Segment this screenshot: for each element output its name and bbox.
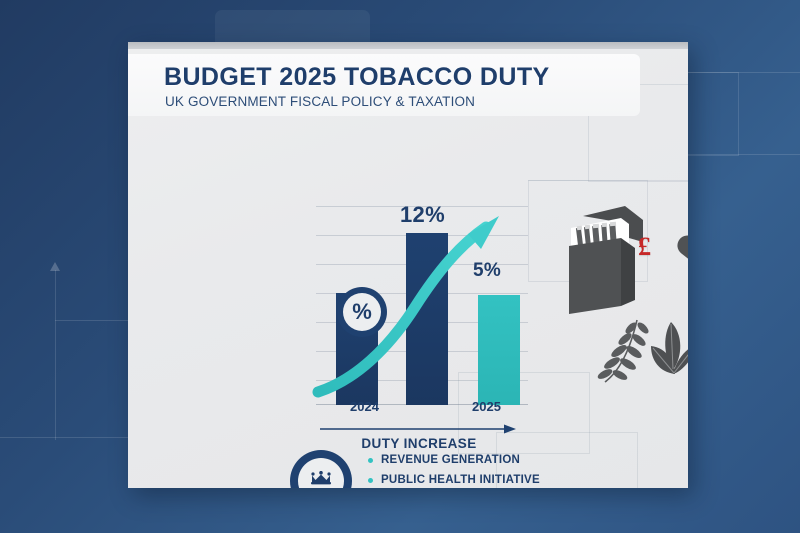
list-item-label: PUBLIC HEALTH INITIATIVE xyxy=(381,474,540,486)
cigar-icon xyxy=(663,198,688,303)
title-band: BUDGET 2025 TOBACCO DUTY UK GOVERNMENT F… xyxy=(128,54,640,116)
page-title: BUDGET 2025 TOBACCO DUTY xyxy=(164,63,550,92)
bar-peak[interactable] xyxy=(406,233,448,405)
percent-badge: % xyxy=(337,287,387,337)
axis-caption: DUTY INCREASE xyxy=(316,436,522,451)
tobacco-leaves-icon xyxy=(583,312,688,390)
infographic-card: BUDGET 2025 TOBACCO DUTY UK GOVERNMENT F… xyxy=(128,42,688,488)
bar-value-12: 12% xyxy=(400,202,445,228)
percent-symbol: % xyxy=(343,293,381,331)
x-tick-2024: 2024 xyxy=(350,399,379,414)
pound-symbol-1: £ xyxy=(638,232,651,262)
list-item-label: REVENUE GENERATION xyxy=(381,454,520,466)
list-item[interactable]: REVENUE GENERATION xyxy=(368,451,540,469)
card-top-rule xyxy=(128,42,688,49)
illustration-group: £ £ £ xyxy=(553,192,688,392)
bg-decor-line-vertical xyxy=(55,270,56,440)
benefits-list: REVENUE GENERATION PUBLIC HEALTH INITIAT… xyxy=(368,451,540,488)
seal-label: HM TREASURY xyxy=(304,487,339,489)
seal-inner-disc: HM TREASURY xyxy=(298,458,344,488)
duty-increase-arrow-icon xyxy=(318,423,518,435)
bar-value-5: 5% xyxy=(473,260,501,282)
infographic-canvas: BUDGET 2025 TOBACCO DUTY UK GOVERNMENT F… xyxy=(0,0,800,533)
page-subtitle: UK GOVERNMENT FISCAL POLICY & TAXATION xyxy=(165,94,475,109)
hm-treasury-seal: HM TREASURY xyxy=(290,450,352,488)
x-tick-2025: 2025 xyxy=(472,399,501,414)
crown-icon xyxy=(309,471,333,486)
bg-decor-arrow-icon xyxy=(50,262,60,271)
bar-2025[interactable] xyxy=(478,295,520,405)
list-item[interactable]: PUBLIC HEALTH INITIATIVE xyxy=(368,471,540,488)
bullet-dot-icon xyxy=(368,458,373,463)
bullet-dot-icon xyxy=(368,478,373,483)
